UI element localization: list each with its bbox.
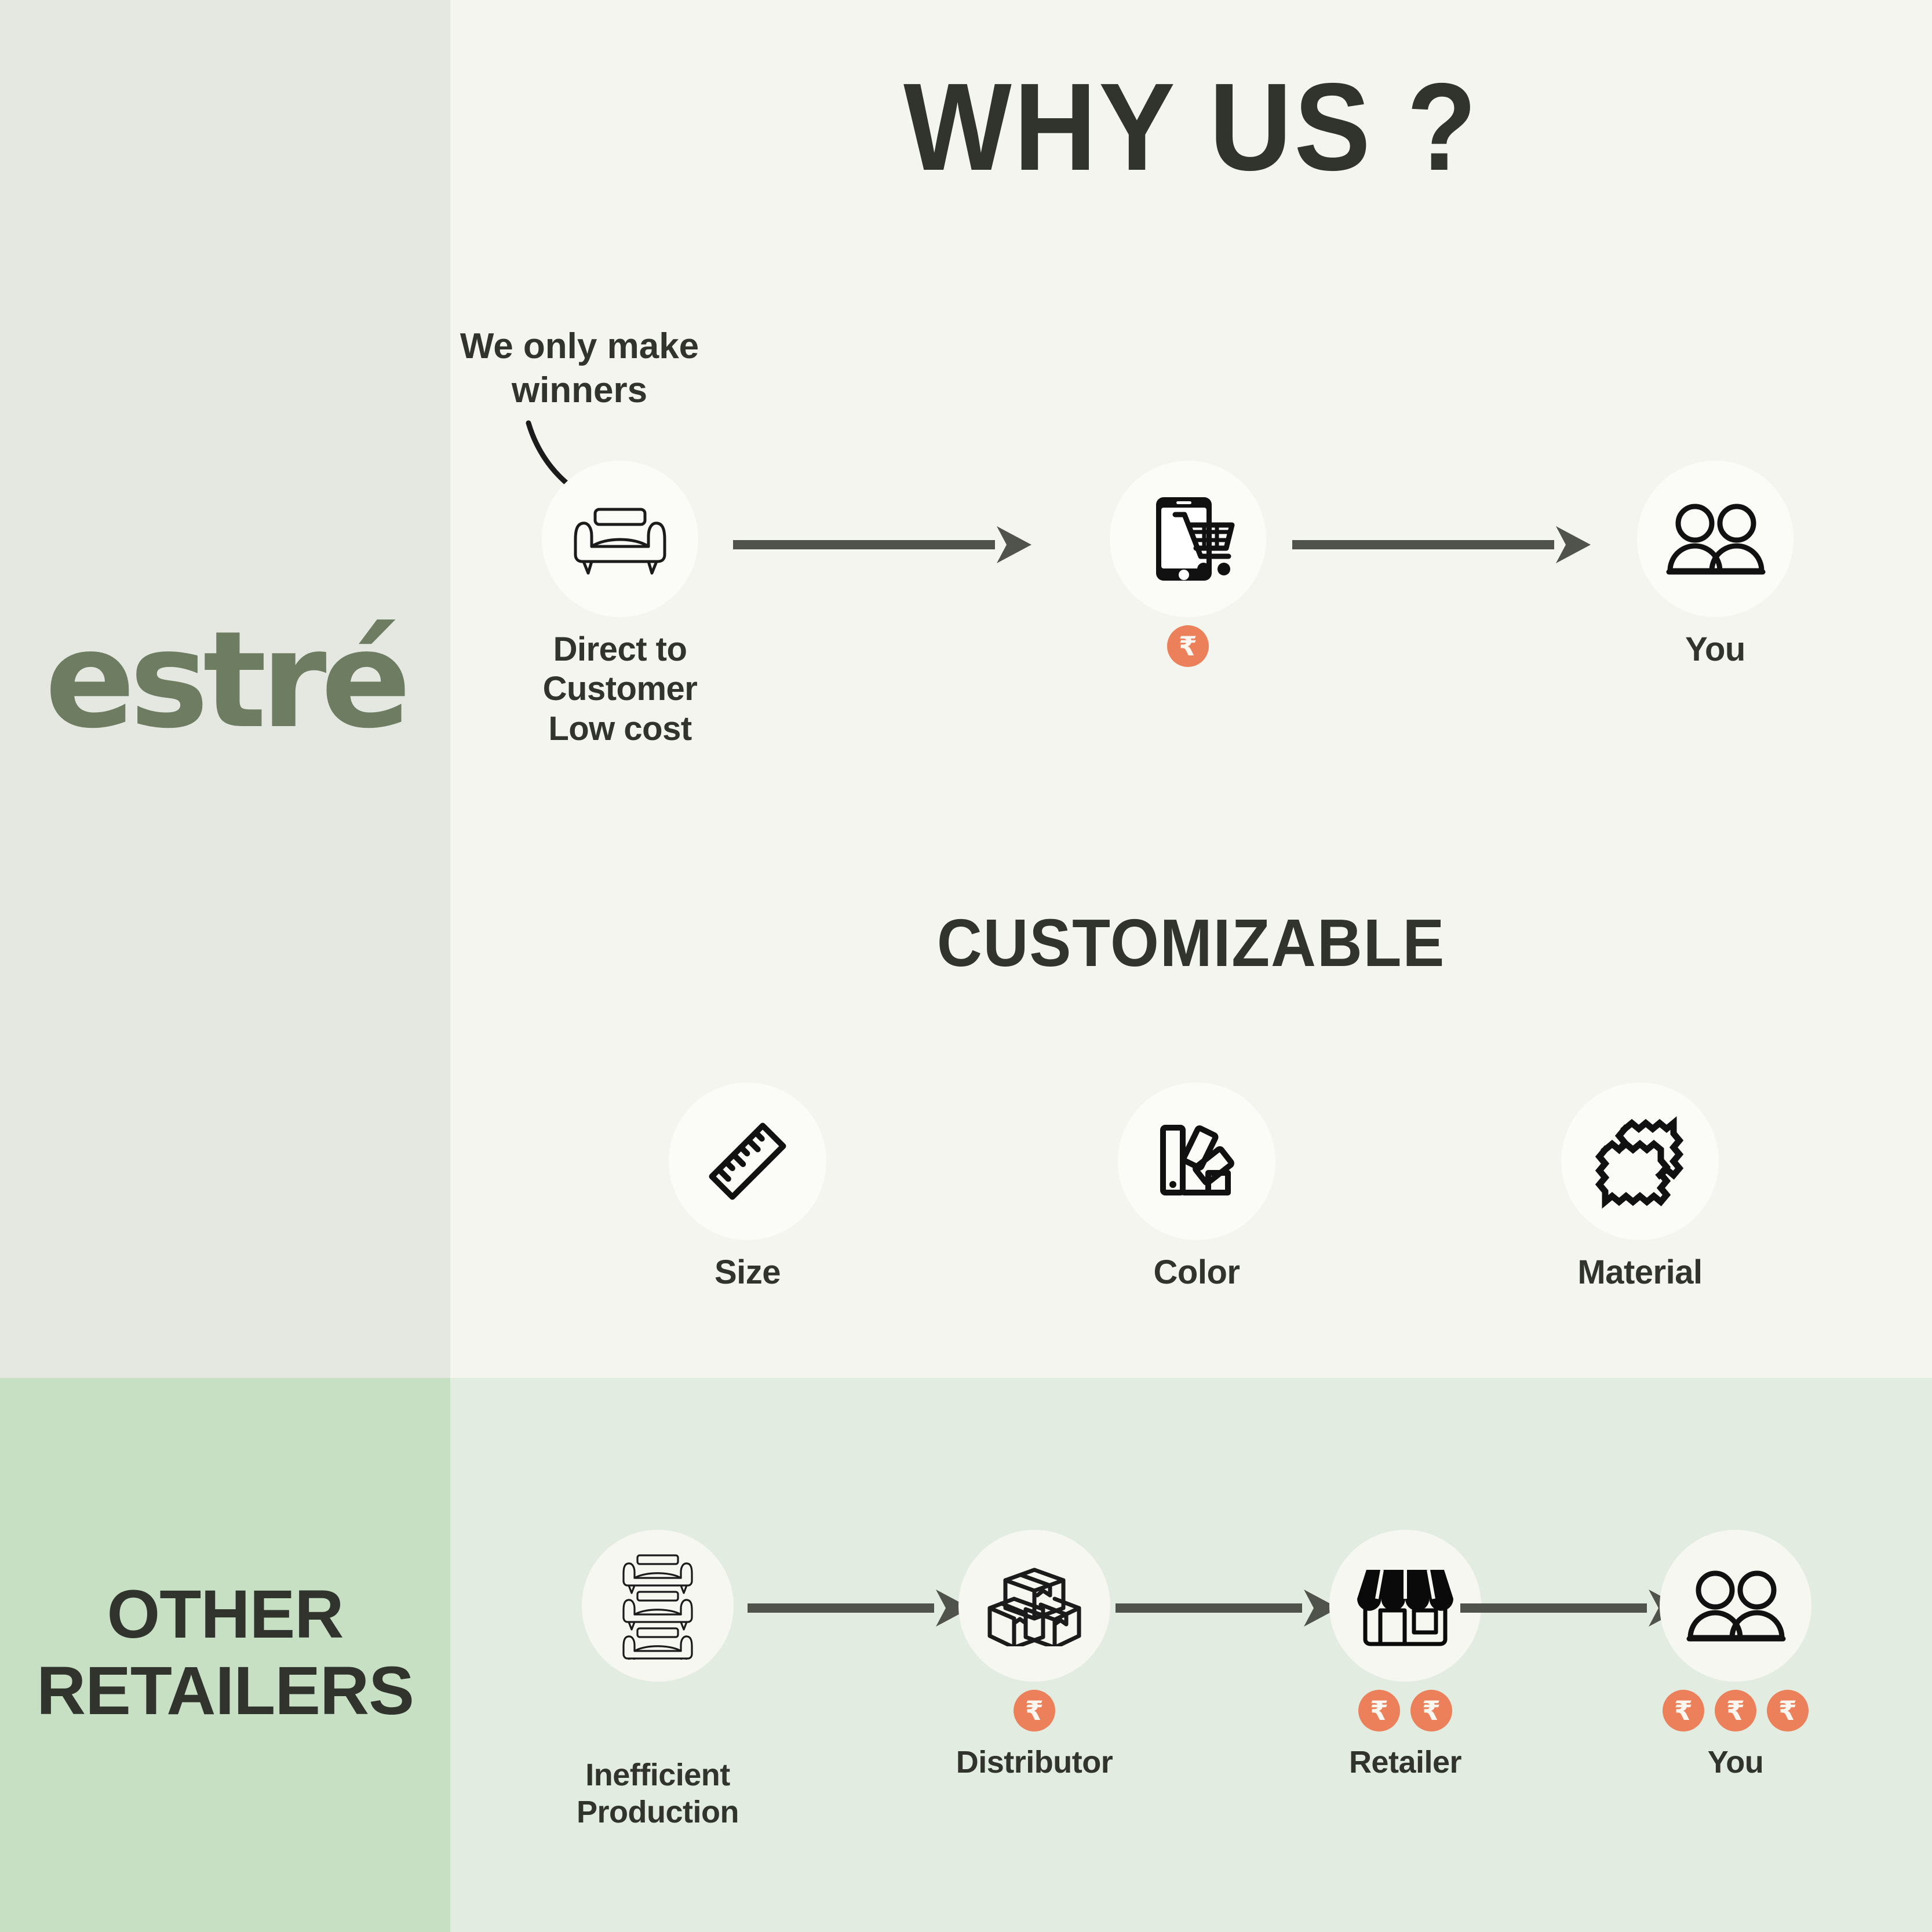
rupee-coin-icon: ₹ (1410, 1690, 1452, 1731)
node-label-line1: You (1599, 630, 1831, 669)
mobile-cart-disc (1110, 461, 1266, 617)
customizable-label: Material (1518, 1253, 1762, 1292)
sofa-disc (542, 461, 698, 617)
brand-logo-text: estré (45, 603, 405, 758)
rupee-coin-icon: ₹ (1167, 625, 1209, 667)
page-title: WHY US ? (509, 55, 1872, 199)
boxes-disc (958, 1530, 1110, 1682)
customizable-item-color: Color (1075, 1082, 1318, 1292)
customizable-label: Size (626, 1253, 869, 1292)
node-label-line1: Distributor (918, 1744, 1150, 1781)
flow-node-you-top: You (1599, 461, 1831, 669)
flow-node-online-purchase: ₹ (1072, 461, 1304, 680)
storefront-icon (1356, 1564, 1455, 1648)
flow-arrow-2 (1292, 522, 1594, 568)
annotation-line2: winners (417, 369, 742, 413)
ruler-icon (701, 1115, 794, 1208)
brand-logo: estré (0, 614, 450, 748)
customizable-label: Color (1075, 1253, 1318, 1292)
coin-group: ₹ ₹ ₹ (1608, 1690, 1863, 1731)
why-us-infographic: estré OTHER RETAILERS WHY US ? We only m… (0, 0, 1932, 1932)
retailer-node-inefficient-production: Inefficient Production (542, 1530, 774, 1831)
node-label: Direct to Customer Low cost (504, 630, 736, 749)
node-label-line1: Direct to Customer (504, 630, 736, 709)
ruler-disc (669, 1082, 826, 1240)
sofa-icon (571, 501, 669, 577)
customizable-item-size: Size (626, 1082, 869, 1292)
flow-arrow-1 (733, 522, 1034, 568)
stacked-sofas-icon (614, 1552, 701, 1660)
coin-group: ₹ (1072, 625, 1304, 667)
node-label-line1: Retailer (1289, 1744, 1521, 1781)
retailer-node-you: ₹ ₹ ₹ You (1608, 1530, 1863, 1781)
fabric-swatch-icon (1592, 1114, 1687, 1209)
two-people-icon (1665, 501, 1766, 577)
customizable-item-material: Material (1518, 1082, 1762, 1292)
node-label-line1: You (1608, 1744, 1863, 1781)
other-retailers-line2: RETAILERS (0, 1653, 450, 1729)
annotation-line1: We only make (417, 325, 742, 369)
stacked-sofas-disc (582, 1530, 734, 1682)
boxes-icon (985, 1565, 1084, 1646)
color-swatch-icon (1150, 1115, 1243, 1208)
flow-node-direct-to-customer: Direct to Customer Low cost (504, 461, 736, 749)
rupee-coin-icon: ₹ (1715, 1690, 1756, 1731)
rupee-coin-icon: ₹ (1663, 1690, 1704, 1731)
two-people-icon (1685, 1568, 1787, 1643)
coin-group: ₹ ₹ (1289, 1690, 1521, 1731)
two-people-disc (1637, 461, 1794, 617)
other-retailers-line1: OTHER (0, 1576, 450, 1653)
node-label: Inefficient Production (542, 1757, 774, 1831)
node-label: You (1599, 630, 1831, 669)
node-label: Distributor (918, 1744, 1150, 1781)
retailer-node-retailer: ₹ ₹ Retailer (1289, 1530, 1521, 1781)
section-title-customizable: CUSTOMIZABLE (502, 904, 1880, 982)
retailer-node-distributor: ₹ Distributor (918, 1530, 1150, 1781)
node-label-line1: Inefficient (542, 1757, 774, 1794)
node-label: You (1608, 1744, 1863, 1781)
mobile-cart-icon (1136, 487, 1240, 591)
node-label-line2: Low cost (504, 709, 736, 749)
storefront-disc (1329, 1530, 1481, 1682)
other-retailers-label: OTHER RETAILERS (0, 1576, 450, 1729)
rupee-coin-icon: ₹ (1767, 1690, 1809, 1731)
coin-group: ₹ (918, 1690, 1150, 1731)
rupee-coin-icon: ₹ (1014, 1690, 1055, 1731)
color-swatch-disc (1118, 1082, 1275, 1240)
two-people-disc (1660, 1530, 1811, 1682)
rupee-coin-icon: ₹ (1358, 1690, 1400, 1731)
fabric-swatch-disc (1561, 1082, 1719, 1240)
annotation-we-only-make-winners: We only make winners (417, 325, 742, 412)
node-label-line2: Production (542, 1794, 774, 1831)
node-label: Retailer (1289, 1744, 1521, 1781)
